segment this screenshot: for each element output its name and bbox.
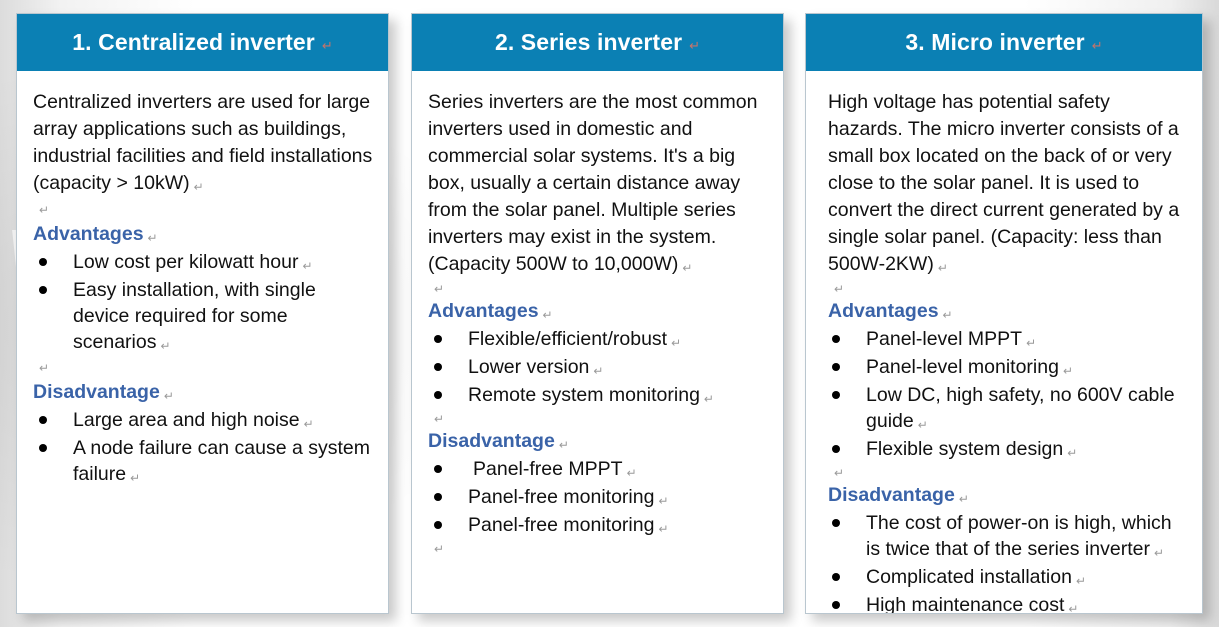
card-title: 3. Micro inverter [905,29,1084,56]
disadvantages-list: Panel-free MPPT↵ Panel-free monitoring↵ … [428,456,769,540]
disadvantages-heading: Disadvantage↵ [33,379,374,407]
list-item: Panel-free MPPT↵ [428,456,769,484]
blank-paragraph: ↵ [828,280,1190,298]
list-item-text: Complicated installation [866,566,1072,588]
return-mark-icon: ↵ [434,282,444,296]
return-mark-icon: ↵ [1068,602,1078,614]
inverter-comparison-cards: 1. Centralized inverter ↵ Centralized in… [0,0,1219,627]
list-item-text: Panel-free monitoring [468,514,654,536]
list-item-text: Easy installation, with single device re… [73,279,316,353]
blank-paragraph: ↵ [428,280,769,298]
card-header-centralized: 1. Centralized inverter ↵ [17,14,388,71]
list-item: A node failure can cause a system failur… [33,435,374,489]
bullet-icon [832,445,840,453]
bullet-icon [832,363,840,371]
return-mark-icon: ↵ [160,339,170,353]
return-mark-icon: ↵ [194,180,204,194]
advantages-heading: Advantages↵ [428,298,769,326]
list-item: High maintenance cost↵ [828,592,1190,614]
bullet-icon [832,601,840,609]
return-mark-icon: ↵ [559,438,569,452]
return-mark-icon: ↵ [671,336,681,350]
return-mark-icon: ↵ [1067,446,1077,460]
list-item: Panel-level MPPT↵ [828,326,1190,354]
return-mark-icon: ↵ [943,308,953,322]
list-item-text: A node failure can cause a system failur… [73,437,370,485]
list-item-text: Flexible/efficient/robust [468,328,667,350]
return-mark-icon: ↵ [304,417,314,431]
card-body-centralized: Centralized inverters are used for large… [17,71,388,489]
disadvantages-list: The cost of power-on is high, which is t… [828,510,1190,614]
list-item: Flexible system design↵ [828,436,1190,464]
advantages-list: Flexible/efficient/robust↵ Lower version… [428,326,769,410]
return-mark-icon: ↵ [704,392,714,406]
return-mark-icon: ↵ [834,282,844,296]
return-mark-icon: ↵ [130,471,140,485]
disadvantages-heading-text: Disadvantage [33,381,160,403]
return-mark-icon: ↵ [434,412,444,426]
return-mark-icon: ↵ [1076,574,1086,588]
list-item: Easy installation, with single device re… [33,277,374,357]
card-intro-paragraph: Series inverters are the most common inv… [428,89,769,280]
card-centralized-inverter[interactable]: 1. Centralized inverter ↵ Centralized in… [16,13,389,614]
list-item: Low DC, high safety, no 600V cable guide… [828,382,1190,436]
advantages-heading: Advantages↵ [828,298,1190,326]
advantages-list: Panel-level MPPT↵ Panel-level monitoring… [828,326,1190,464]
blank-paragraph: ↵ [428,540,769,558]
list-item-text: Panel-free monitoring [468,486,654,508]
return-mark-icon: ↵ [834,466,844,480]
list-item: Lower version↵ [428,354,769,382]
list-item: Panel-free monitoring↵ [428,512,769,540]
bullet-icon [434,521,442,529]
list-item: Panel-level monitoring↵ [828,354,1190,382]
bullet-icon [434,335,442,343]
advantages-heading-text: Advantages [33,223,144,245]
disadvantages-heading-text: Disadvantage [428,430,555,452]
bullet-icon [832,519,840,527]
card-intro-paragraph: Centralized inverters are used for large… [33,89,374,199]
list-item-text: Large area and high noise [73,409,300,431]
blank-paragraph: ↵ [828,464,1190,482]
return-mark-icon: ↵ [39,203,49,217]
bullet-icon [39,444,47,452]
bullet-icon [832,391,840,399]
card-intro-paragraph: High voltage has potential safety hazard… [828,89,1190,280]
return-mark-icon: ↵ [658,494,668,508]
return-mark-icon: ↵ [593,364,603,378]
list-item-text: Panel-level monitoring [866,356,1059,378]
bullet-icon [39,286,47,294]
bullet-icon [434,363,442,371]
advantages-heading-text: Advantages [428,300,539,322]
card-body-micro: High voltage has potential safety hazard… [806,71,1202,614]
card-intro-text: Centralized inverters are used for large… [33,91,372,194]
bullet-icon [39,416,47,424]
disadvantages-heading-text: Disadvantage [828,484,955,506]
list-item-text: Low cost per kilowatt hour [73,251,298,273]
return-mark-icon: ↵ [1154,546,1164,560]
card-title: 1. Centralized inverter [72,29,315,56]
return-mark-icon: ↵ [322,38,333,54]
return-mark-icon: ↵ [434,542,444,556]
disadvantages-heading: Disadvantage↵ [428,428,769,456]
bullet-icon [434,493,442,501]
list-item-text: Panel-free MPPT [473,458,623,480]
list-item-text: The cost of power-on is high, which is t… [866,512,1172,560]
blank-paragraph: ↵ [428,410,769,428]
return-mark-icon: ↵ [682,261,692,275]
list-item: Remote system monitoring↵ [428,382,769,410]
list-item: Low cost per kilowatt hour↵ [33,249,374,277]
return-mark-icon: ↵ [658,522,668,536]
return-mark-icon: ↵ [627,466,637,480]
card-body-series: Series inverters are the most common inv… [412,71,783,558]
blank-paragraph: ↵ [33,199,374,221]
card-intro-text: High voltage has potential safety hazard… [828,91,1179,275]
card-micro-inverter[interactable]: 3. Micro inverter ↵ High voltage has pot… [805,13,1203,614]
advantages-heading-text: Advantages [828,300,939,322]
card-intro-text: Series inverters are the most common inv… [428,91,757,275]
card-header-micro: 3. Micro inverter ↵ [806,14,1202,71]
return-mark-icon: ↵ [148,231,158,245]
blank-paragraph: ↵ [33,357,374,379]
return-mark-icon: ↵ [164,389,174,403]
card-header-series: 2. Series inverter ↵ [412,14,783,71]
return-mark-icon: ↵ [543,308,553,322]
list-item-text: High maintenance cost [866,594,1064,614]
list-item-text: Panel-level MPPT [866,328,1022,350]
advantages-heading: Advantages↵ [33,221,374,249]
card-title: 2. Series inverter [495,29,682,56]
list-item-text: Flexible system design [866,438,1063,460]
list-item-text: Lower version [468,356,589,378]
list-item: Large area and high noise↵ [33,407,374,435]
list-item: Flexible/efficient/robust↵ [428,326,769,354]
disadvantages-list: Large area and high noise↵ A node failur… [33,407,374,489]
bullet-icon [832,573,840,581]
return-mark-icon: ↵ [918,418,928,432]
bullet-icon [434,465,442,473]
slide-canvas: 1. Centralized inverter ↵ Centralized in… [0,0,1219,627]
disadvantages-heading: Disadvantage↵ [828,482,1190,510]
list-item: Panel-free monitoring↵ [428,484,769,512]
return-mark-icon: ↵ [1092,38,1103,54]
bullet-icon [832,335,840,343]
card-series-inverter[interactable]: 2. Series inverter ↵ Series inverters ar… [411,13,784,614]
return-mark-icon: ↵ [1026,336,1036,350]
advantages-list: Low cost per kilowatt hour↵ Easy install… [33,249,374,357]
list-item-text: Remote system monitoring [468,384,700,406]
return-mark-icon: ↵ [1063,364,1073,378]
return-mark-icon: ↵ [959,492,969,506]
list-item: The cost of power-on is high, which is t… [828,510,1190,564]
return-mark-icon: ↵ [302,259,312,273]
list-item-text: Low DC, high safety, no 600V cable guide [866,384,1175,432]
return-mark-icon: ↵ [938,261,948,275]
bullet-icon [434,391,442,399]
return-mark-icon: ↵ [689,38,700,54]
list-item: Complicated installation↵ [828,564,1190,592]
bullet-icon [39,258,47,266]
return-mark-icon: ↵ [39,361,49,375]
